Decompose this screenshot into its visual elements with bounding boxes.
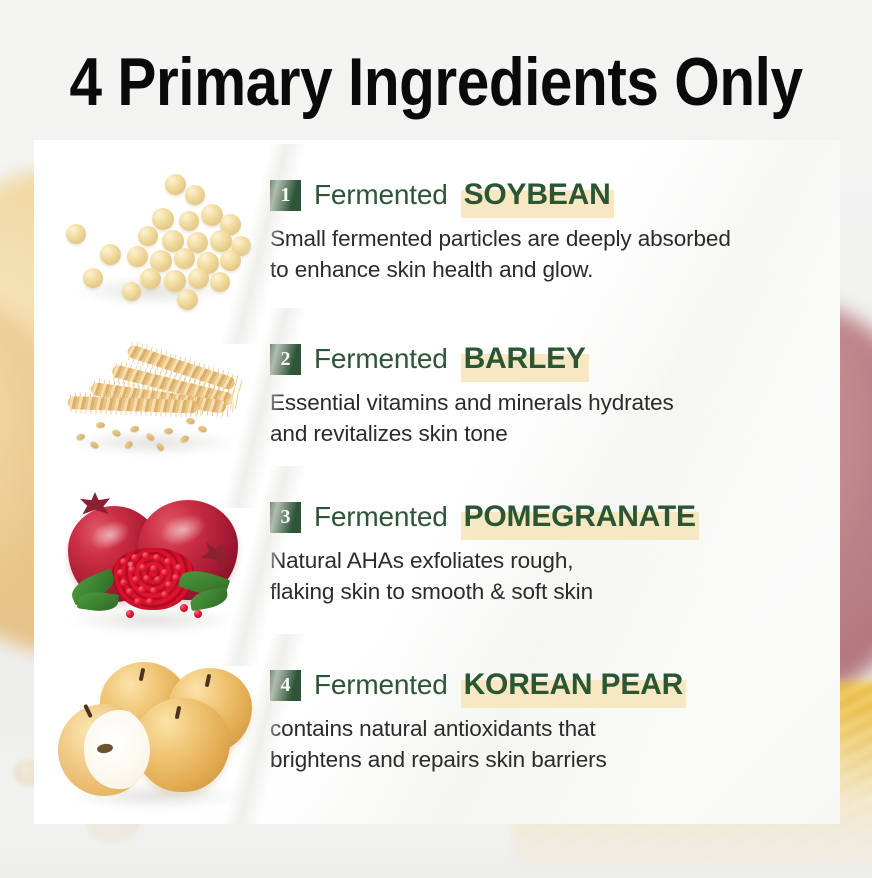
korean-pear-description: contains natural antioxidants that brigh… <box>270 713 840 775</box>
korean-pear-name-label: KOREAN PEAR <box>461 668 687 702</box>
pomegranate-number-badge: 3 <box>270 502 301 533</box>
pomegranate-name-label: POMEGRANATE <box>461 500 699 534</box>
korean-pear-text-block: 4 Fermented KOREAN PEAR contains natural… <box>270 648 840 775</box>
pomegranate-description-line-1: Natural AHAs exfoliates rough, <box>270 545 840 576</box>
korean-pear-photo <box>34 648 270 824</box>
korean-pear-description-line-1: contains natural antioxidants that <box>270 713 840 744</box>
pomegranate-description: Natural AHAs exfoliates rough, flaking s… <box>270 545 840 607</box>
pomegranate-photo <box>34 480 270 650</box>
korean-pear-number-badge: 4 <box>270 670 301 701</box>
barley-description-line-2: and revitalizes skin tone <box>270 418 840 449</box>
barley-description-line-1: Essential vitamins and minerals hydrates <box>270 387 840 418</box>
soybean-text-block: 1 Fermented SOYBEAN Small fermented part… <box>270 158 840 285</box>
soybean-description: Small fermented particles are deeply abs… <box>270 223 840 285</box>
ingredient-row-pomegranate: 3 Fermented POMEGRANATE Natural AHAs exf… <box>34 480 840 650</box>
pomegranate-description-line-2: flaking skin to smooth & soft skin <box>270 576 840 607</box>
page-title: 4 Primary Ingredients Only <box>61 44 811 120</box>
ingredient-row-soybean: 1 Fermented SOYBEAN Small fermented part… <box>34 158 840 328</box>
soybean-prefix-label: Fermented <box>314 179 448 211</box>
korean-pear-prefix-label: Fermented <box>314 669 448 701</box>
barley-text-block: 2 Fermented BARLEY Essential vitamins an… <box>270 322 840 449</box>
barley-number-badge: 2 <box>270 344 301 375</box>
ingredient-row-korean-pear: 4 Fermented KOREAN PEAR contains natural… <box>34 648 840 824</box>
soybean-description-line-2: to enhance skin health and glow. <box>270 254 840 285</box>
korean-pear-heading: 4 Fermented KOREAN PEAR <box>270 668 840 702</box>
ingredients-card: 1 Fermented SOYBEAN Small fermented part… <box>34 140 840 824</box>
barley-heading: 2 Fermented BARLEY <box>270 342 840 376</box>
barley-name-label: BARLEY <box>461 342 589 376</box>
barley-description: Essential vitamins and minerals hydrates… <box>270 387 840 449</box>
pomegranate-text-block: 3 Fermented POMEGRANATE Natural AHAs exf… <box>270 480 840 607</box>
soybean-photo <box>34 158 270 328</box>
barley-prefix-label: Fermented <box>314 343 448 375</box>
soybean-number-badge: 1 <box>270 180 301 211</box>
barley-photo <box>34 322 270 482</box>
ingredient-row-barley: 2 Fermented BARLEY Essential vitamins an… <box>34 322 840 482</box>
soybean-description-line-1: Small fermented particles are deeply abs… <box>270 223 840 254</box>
soybean-heading: 1 Fermented SOYBEAN <box>270 178 840 212</box>
pomegranate-prefix-label: Fermented <box>314 501 448 533</box>
korean-pear-description-line-2: brightens and repairs skin barriers <box>270 744 840 775</box>
pomegranate-heading: 3 Fermented POMEGRANATE <box>270 500 840 534</box>
soybean-name-label: SOYBEAN <box>461 178 614 212</box>
